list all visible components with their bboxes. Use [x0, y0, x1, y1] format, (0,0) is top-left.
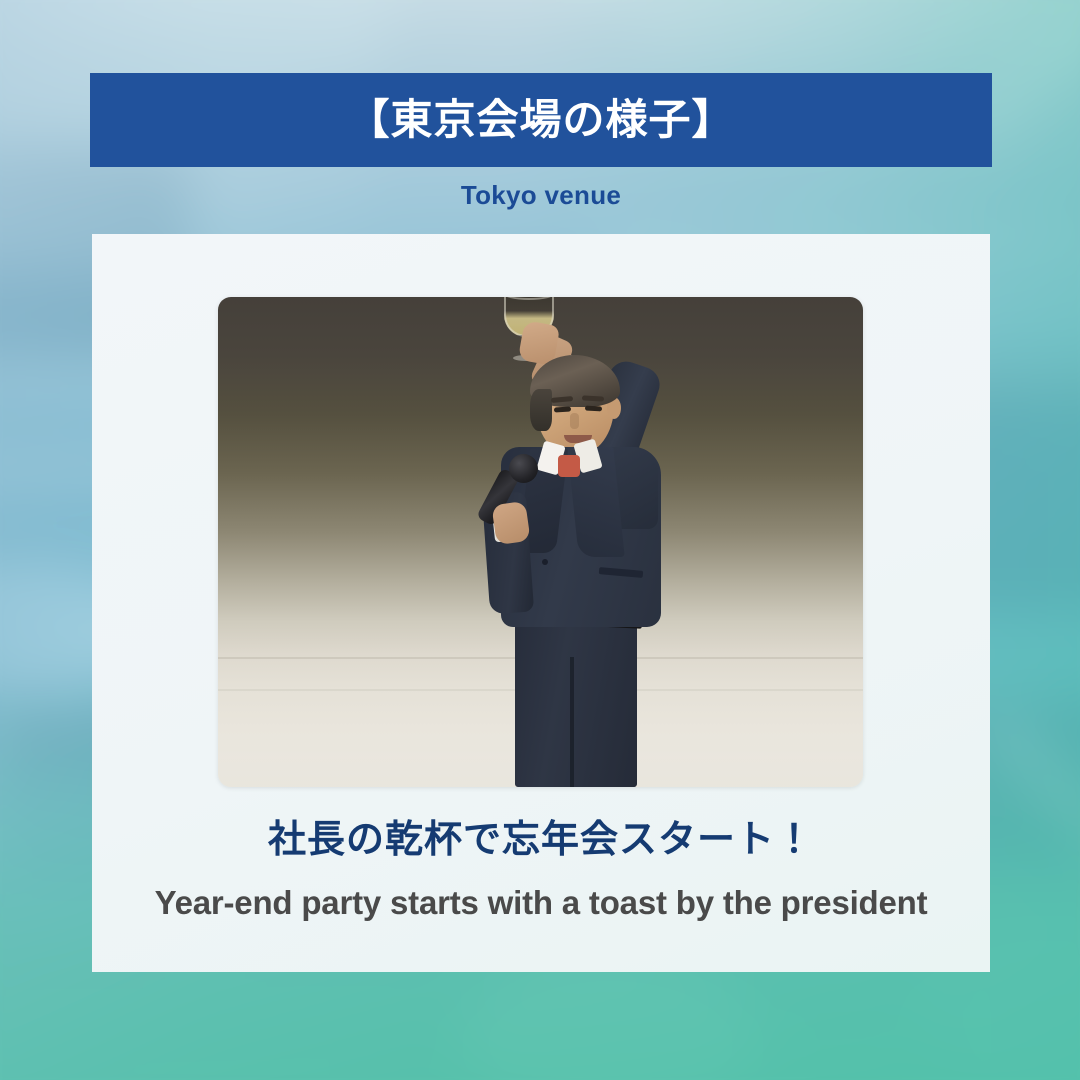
subtitle-tokyo-venue: Tokyo venue: [90, 180, 992, 211]
nose: [570, 413, 579, 429]
caption-english: Year-end party starts with a toast by th…: [92, 885, 990, 921]
event-photo: [218, 297, 863, 787]
banner-title-text: 【東京会場の様子】: [347, 99, 734, 141]
president-figure: [218, 297, 863, 787]
eyebrow-right: [582, 395, 604, 401]
hair-sideburn: [530, 389, 552, 431]
trouser-seam: [570, 657, 574, 787]
jacket-button: [542, 559, 548, 565]
microphone-head: [509, 454, 538, 483]
caption-japanese: 社長の乾杯で忘年会スタート！: [92, 820, 990, 862]
eye-right: [585, 406, 602, 412]
mic-hand: [491, 501, 530, 545]
necktie-knot: [558, 455, 580, 477]
title-banner: 【東京会場の様子】: [90, 73, 992, 167]
